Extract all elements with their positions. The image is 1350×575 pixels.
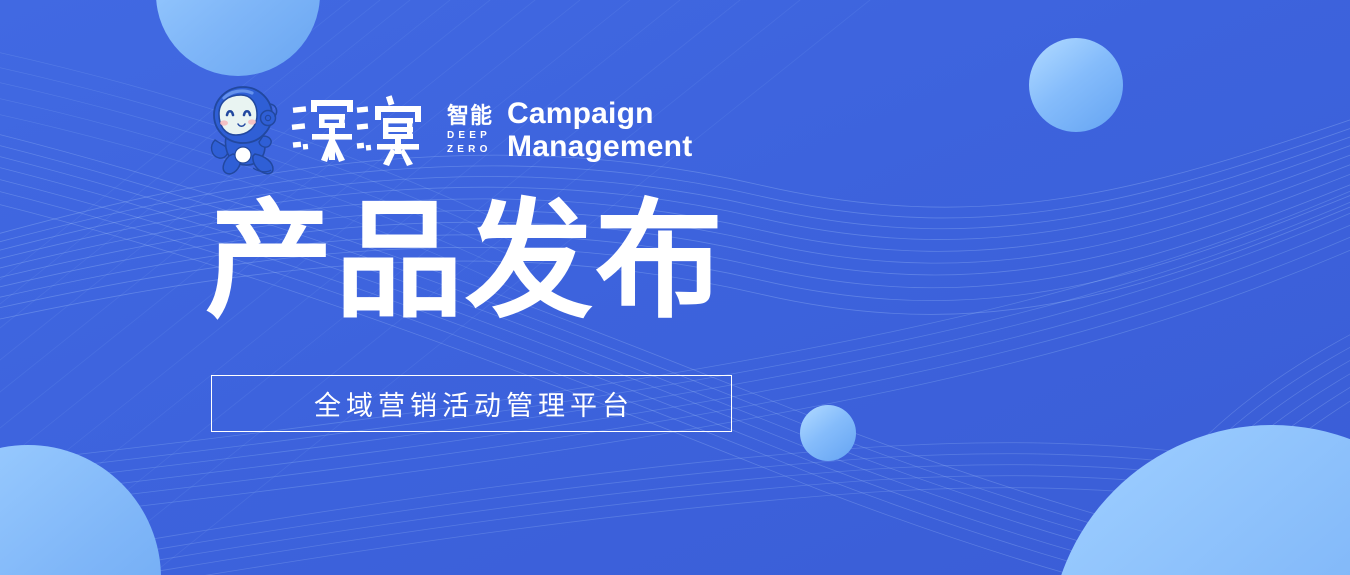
brand-sub-en-line2: ZERO	[447, 144, 493, 156]
product-launch-banner: 智能 DEEP ZERO Campaign Management 产品发布 全域…	[0, 0, 1350, 575]
shenyan-wordmark-icon	[291, 94, 441, 166]
subtitle-text: 全域营销活动管理平台	[309, 384, 634, 423]
brand-sub-cn: 智能	[447, 104, 493, 128]
product-name: Campaign Management	[507, 97, 692, 163]
headline-title: 产品发布	[205, 192, 725, 332]
brand-sub-en-line1: DEEP	[447, 130, 493, 142]
subtitle-box: 全域营销活动管理平台	[211, 375, 732, 432]
product-name-line1: Campaign	[507, 97, 692, 130]
brand-logo-lockup: 智能 DEEP ZERO Campaign Management	[207, 84, 692, 176]
product-name-line2: Management	[507, 130, 692, 163]
brand-sub-lockup: 智能 DEEP ZERO	[447, 99, 493, 161]
robot-mascot-icon	[207, 84, 285, 176]
